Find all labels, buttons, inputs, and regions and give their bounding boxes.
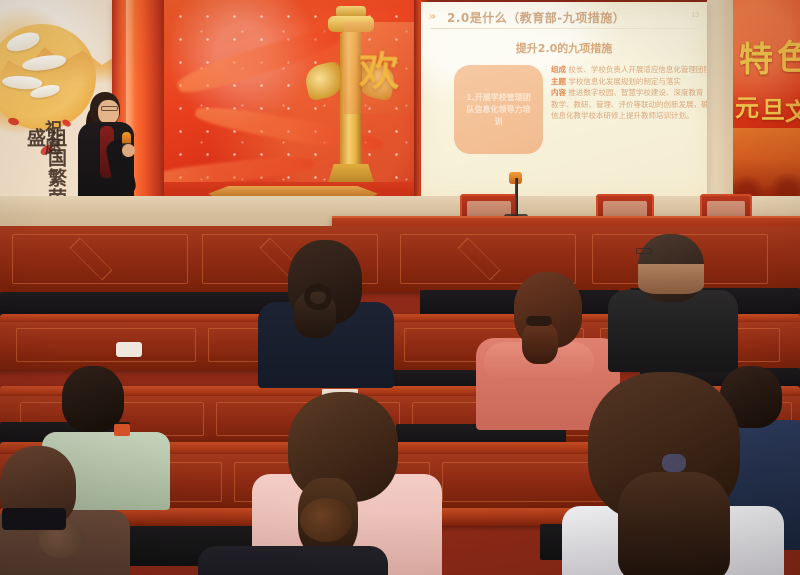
projection-screen[interactable]: »› 2.0是什么（教育部-九项措施） 13 提升2.0的九项措施 1.开展学校… — [421, 2, 707, 198]
slide-body-content: 学校信息化发展规划的制定与落实 — [568, 77, 681, 86]
slide-body-content: 校长、学校负责人开展适应信息化管理团队 — [568, 65, 707, 74]
collar — [2, 508, 66, 530]
slide-header: »› 2.0是什么（教育部-九项措施） 13 — [421, 6, 707, 26]
hair-tie — [526, 316, 552, 326]
glasses-icon — [101, 106, 118, 111]
conference-hall-photo: 祝愿 祖国繁荣昌盛 — [0, 0, 800, 575]
slide-body-content: 信息化教学校本研修上提升教师培训计划。 — [551, 111, 694, 120]
chevron-right-icon: »› — [429, 11, 434, 22]
slide-body-lead: 内容 — [551, 88, 566, 97]
right-banner-char: 特 — [739, 32, 773, 81]
neck — [638, 264, 704, 294]
right-banner-char: 文 — [785, 92, 800, 127]
right-banner-char: 色 — [777, 30, 800, 79]
microphone-stand — [515, 178, 518, 218]
attendee-navy-coat-ponytail — [258, 240, 394, 380]
slide-callout-text: 1.开展学校管理团队信息化领导力培训 — [464, 92, 533, 128]
presenter-face — [98, 100, 119, 124]
attendee-brown-coat — [0, 468, 130, 575]
scrunchie — [300, 498, 352, 542]
slide-callout-box: 1.开展学校管理团队信息化领导力培训 — [454, 65, 543, 154]
slide-body-lead: 主题 — [551, 77, 566, 86]
attendee-dark-jacket-man — [608, 234, 738, 364]
slide-body-content: 推进数字校园、智慧学校建设、深度教育 — [568, 88, 703, 97]
right-banner-char: 元 — [735, 88, 759, 123]
audience-seating — [0, 226, 800, 575]
slide-body-content: 教学、教研、管理、评价等联动的创新发展，确定 — [551, 100, 707, 109]
slide-body-text: 组成 校长、学校负责人开展适应信息化管理团队 主题 学校信息化发展规划的制定与落… — [551, 64, 699, 122]
gold-character-panel: 欢 — [344, 22, 414, 114]
hair-tie — [662, 454, 686, 472]
right-festive-banner: 特 色 元 旦 文 — [733, 0, 800, 215]
tissue — [116, 342, 142, 357]
slide-body-line: 主题 学校信息化发展规划的制定与落实 — [551, 76, 699, 88]
attendee-long-hair-foreground — [562, 376, 784, 575]
right-banner-char: 旦 — [761, 90, 785, 125]
attendee-dark-shoulder — [198, 546, 388, 575]
slide-divider — [431, 28, 697, 29]
slide-body-line: 组成 校长、学校负责人开展适应信息化管理团队 — [551, 64, 699, 76]
gold-character: 欢 — [359, 39, 399, 97]
slide-subtitle: 提升2.0的九项措施 — [421, 40, 707, 56]
slide-page-number: 13 — [691, 12, 699, 19]
slide-title: 2.0是什么（教育部-九项措施） — [447, 9, 625, 26]
collar-tag — [114, 424, 130, 436]
slide-body-lead: 组成 — [551, 65, 566, 74]
presenter-hand — [122, 144, 135, 157]
slide-body-line: 教学、教研、管理、评价等联动的创新发展，确定 — [551, 99, 699, 111]
back-wall — [707, 0, 733, 212]
slide-body-line: 内容 推进数字校园、智慧学校建设、深度教育 — [551, 87, 699, 99]
glasses-icon — [636, 248, 652, 254]
hair-tie — [304, 284, 332, 310]
slide-body-line: 信息化教学校本研修上提升教师培训计划。 — [551, 110, 699, 122]
